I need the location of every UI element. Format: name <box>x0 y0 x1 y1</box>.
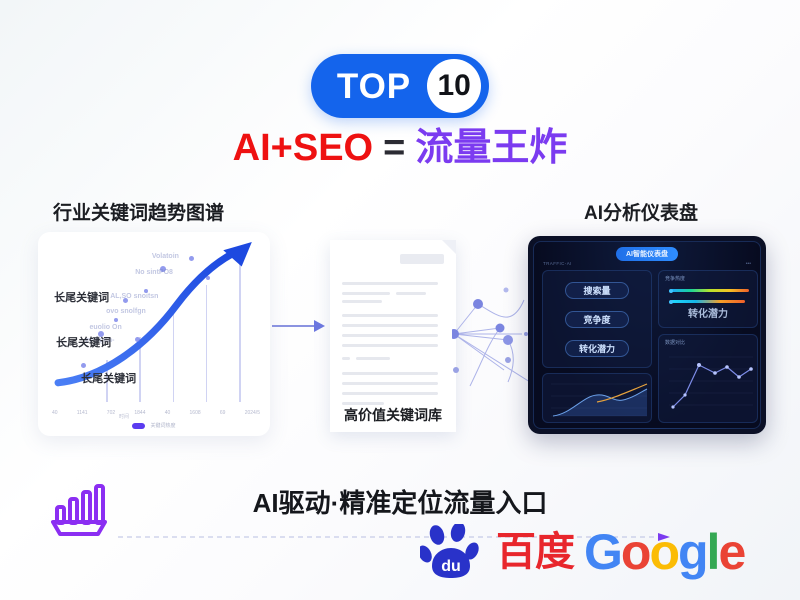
baidu-paw-icon: du <box>420 524 486 580</box>
line-chart <box>659 335 759 424</box>
keyword-library-document <box>330 240 456 432</box>
headline-left: AI+SEO <box>233 127 373 169</box>
doc-text-line <box>356 357 390 360</box>
page-fold-icon <box>442 240 456 254</box>
area-chart-panel <box>542 373 652 423</box>
heat-gradient-knob <box>669 300 673 304</box>
chart-ghost-label: ovo snolfgn <box>106 308 146 315</box>
comparison-panel: 数据对比 <box>658 334 758 423</box>
headline-right: 流量王炸 <box>415 127 567 169</box>
heat-overlay-label: 转化潜力 <box>688 305 728 320</box>
doc-text-line <box>342 282 438 285</box>
heat-gradient-knob <box>669 289 673 293</box>
doc-text-line <box>342 292 390 295</box>
node-network-icon <box>452 282 538 390</box>
doc-text-line <box>396 292 426 295</box>
google-letter-o2: o <box>649 524 678 580</box>
google-letter-o1: o <box>621 524 650 580</box>
axis-tick: 69 <box>220 410 226 416</box>
legend-swatch-icon <box>132 423 145 429</box>
keyword-trend-card: Volatoin No sintPO8 AL,SO snoitsn ovo sn… <box>38 232 270 436</box>
heat-gradient-bar <box>671 300 745 303</box>
baidu-mark-text: du <box>441 558 461 575</box>
dashboard-menu-icon[interactable]: ••• <box>746 261 751 267</box>
badge-label: TOP <box>337 69 427 104</box>
metrics-panel: 搜索量 竞争度 转化潜力 <box>542 270 652 368</box>
flow-arrow-icon <box>272 318 326 334</box>
scatter-dot <box>144 289 148 293</box>
chart-ghost-label: AL,SO snoitsn <box>110 293 158 300</box>
chart-ghost-label: Volatoin <box>152 253 179 260</box>
doc-text-line <box>342 344 438 347</box>
headline: AI+SEO=流量王炸 <box>0 128 800 170</box>
doc-text-line <box>342 392 438 395</box>
dashboard-brand: TRAFFIC-AI <box>543 261 572 266</box>
chart-ghost-label: euolio On <box>89 324 121 331</box>
doc-text-line <box>342 382 438 385</box>
area-chart <box>543 374 653 424</box>
heat-gradient-bar <box>671 289 749 292</box>
doc-text-line <box>342 334 438 337</box>
bottom-tagline: AI驱动·精准定位流量入口 <box>0 483 800 520</box>
headline-equals: = <box>383 127 405 169</box>
doc-text-line <box>342 372 438 375</box>
document-caption: 高价值关键词库 <box>330 405 456 425</box>
doc-text-line <box>342 314 438 317</box>
scatter-dot <box>206 276 210 280</box>
heat-panel-title: 竞争热度 <box>665 275 685 282</box>
metric-button-conversion-potential[interactable]: 转化潜力 <box>565 340 629 357</box>
doc-header-block <box>400 254 444 264</box>
search-engine-logos: du 百度 Google <box>420 524 744 580</box>
keyword-annotation: 长尾关键词 <box>81 370 136 386</box>
google-letter-e: e <box>718 524 744 580</box>
chart-legend: 关键词热度 <box>38 422 270 429</box>
top-badge: TOP 10 <box>311 54 489 118</box>
heat-panel: 竞争热度 转化潜力 <box>658 270 758 328</box>
dashboard-screen: AI智能仪表盘 TRAFFIC-AI ••• 搜索量 竞争度 转化潜力 <box>533 241 761 429</box>
top-badge-container: TOP 10 <box>0 54 800 118</box>
metric-button-competition[interactable]: 竞争度 <box>565 311 629 328</box>
chart-plot-area: Volatoin No sintPO8 AL,SO snoitsn ovo sn… <box>52 240 260 402</box>
google-letter-l: l <box>707 524 719 580</box>
axis-tick: 2024/5 <box>245 410 260 416</box>
chart-ghost-label: No sintPO8 <box>135 269 173 276</box>
badge-number: 10 <box>427 59 481 113</box>
dashboard-title-pill: AI智能仪表盘 <box>616 247 678 261</box>
doc-text-line <box>342 300 382 303</box>
left-section-caption: 行业关键词趋势图谱 <box>53 198 224 225</box>
baidu-wordmark: 百度 <box>496 532 574 572</box>
ai-dashboard: AI智能仪表盘 TRAFFIC-AI ••• 搜索量 竞争度 转化潜力 <box>528 236 766 434</box>
google-letter-g: G <box>584 524 621 580</box>
legend-label: 关键词热度 <box>150 422 175 429</box>
keyword-annotation: 长尾关键词 <box>54 289 109 305</box>
google-letter-g2: g <box>678 524 707 580</box>
doc-text-line <box>342 357 350 360</box>
metric-button-search-volume[interactable]: 搜索量 <box>565 282 629 299</box>
doc-text-line <box>342 324 438 327</box>
google-wordmark: Google <box>584 527 744 577</box>
keyword-annotation: 长尾关键词 <box>56 334 111 350</box>
comparison-panel-title: 数据对比 <box>665 339 685 346</box>
chart-x-axis-label: 时间 <box>38 413 210 420</box>
right-section-caption: AI分析仪表盘 <box>584 198 698 225</box>
